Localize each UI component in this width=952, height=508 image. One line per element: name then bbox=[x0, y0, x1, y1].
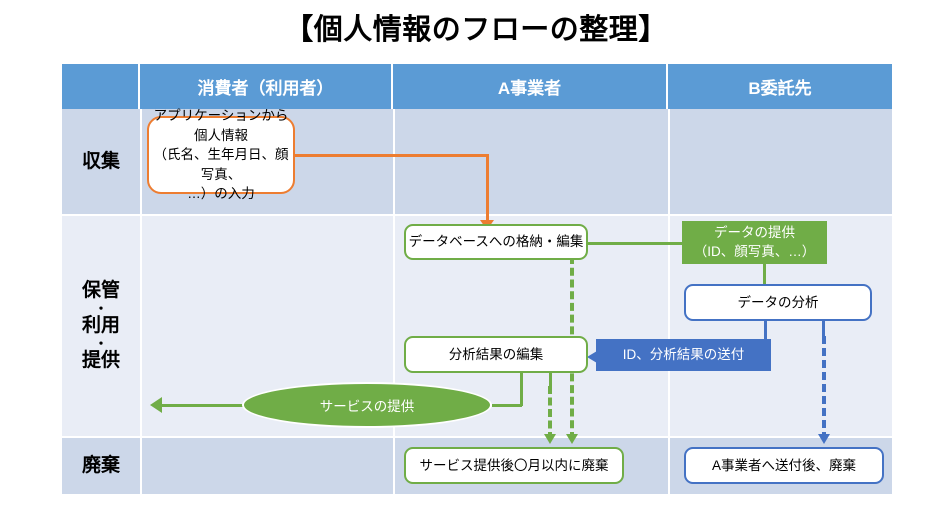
arrowhead-blue-down-dispose-icon bbox=[818, 434, 830, 444]
row-label-use: 利用 bbox=[82, 315, 120, 337]
node-service-provision-ellipse[interactable]: サービスの提供 bbox=[242, 382, 492, 428]
flow-label-data-provision-line-2: （ID、顔写真、…） bbox=[694, 243, 816, 262]
flow-table: 消費者（利用者） A事業者 B委託先 収集 保管 ・ 利用 ・ 提供 廃棄 bbox=[62, 64, 892, 494]
row-label-provide: 提供 bbox=[82, 350, 120, 372]
flow-label-data-provision-text: データの提供 （ID、顔写真、…） bbox=[694, 224, 816, 262]
node-analysis-result-edit[interactable]: 分析結果の編集 bbox=[404, 336, 588, 373]
row-label-dispose-text: 廃棄 bbox=[82, 455, 120, 477]
node-application-input[interactable]: アプリケーションから個人情報 （氏名、生年月日、顔写真、 …）の入力 bbox=[147, 116, 295, 194]
row-label-collect: 収集 bbox=[62, 109, 140, 214]
row-label-sep-2: ・ bbox=[94, 337, 107, 350]
table-header-consumer: 消費者（利用者） bbox=[140, 64, 393, 109]
connector-orange-vertical bbox=[486, 154, 489, 224]
arrowhead-green-down-dispose-b-icon bbox=[566, 434, 578, 444]
node-database-store-edit[interactable]: データベースへの格納・編集 bbox=[404, 224, 588, 260]
node-data-analysis[interactable]: データの分析 bbox=[684, 284, 872, 321]
table-header-business: A事業者 bbox=[393, 64, 668, 109]
arrowhead-green-down-dispose-a-icon bbox=[544, 434, 556, 444]
row-label-dispose: 廃棄 bbox=[62, 438, 140, 494]
connector-green-service-out bbox=[162, 404, 246, 407]
row-label-store-use-provide: 保管 ・ 利用 ・ 提供 bbox=[62, 216, 140, 436]
flow-label-id-result-sending[interactable]: ID、分析結果の送付 bbox=[596, 339, 771, 371]
node-application-input-text: アプリケーションから個人情報 （氏名、生年月日、顔写真、 …）の入力 bbox=[149, 106, 293, 204]
node-application-input-line-1: アプリケーションから個人情報 bbox=[149, 106, 293, 145]
connector-blue-dashed-dispose bbox=[822, 336, 826, 440]
row-label-sep-1: ・ bbox=[94, 302, 107, 315]
node-application-input-line-2: （氏名、生年月日、顔写真、 bbox=[149, 145, 293, 184]
connector-green-dashed-edit-dispose bbox=[548, 386, 552, 440]
connector-green-horizontal-service bbox=[492, 404, 522, 407]
connector-orange-horizontal bbox=[295, 154, 489, 157]
flow-label-data-provision[interactable]: データの提供 （ID、顔写真、…） bbox=[682, 221, 827, 264]
table-header-vendor: B委託先 bbox=[668, 64, 892, 109]
node-dispose-business[interactable]: サービス提供後〇月以内に廃棄 bbox=[404, 447, 624, 484]
grid-row-divider-2 bbox=[62, 436, 892, 438]
row-label-store: 保管 bbox=[82, 280, 120, 302]
connector-green-vertical-service bbox=[520, 372, 523, 406]
page-title: 【個人情報のフローの整理】 bbox=[0, 6, 952, 48]
node-application-input-line-3: …）の入力 bbox=[149, 184, 293, 204]
connector-green-horizontal-provide bbox=[587, 242, 685, 245]
flow-label-data-provision-line-1: データの提供 bbox=[694, 224, 816, 243]
arrowhead-green-left-service-icon bbox=[150, 397, 162, 413]
row-label-collect-text: 収集 bbox=[82, 151, 120, 173]
table-header-stage bbox=[62, 64, 140, 109]
node-dispose-vendor[interactable]: A事業者へ送付後、廃棄 bbox=[684, 447, 884, 484]
grid-row-divider-1 bbox=[62, 214, 892, 216]
